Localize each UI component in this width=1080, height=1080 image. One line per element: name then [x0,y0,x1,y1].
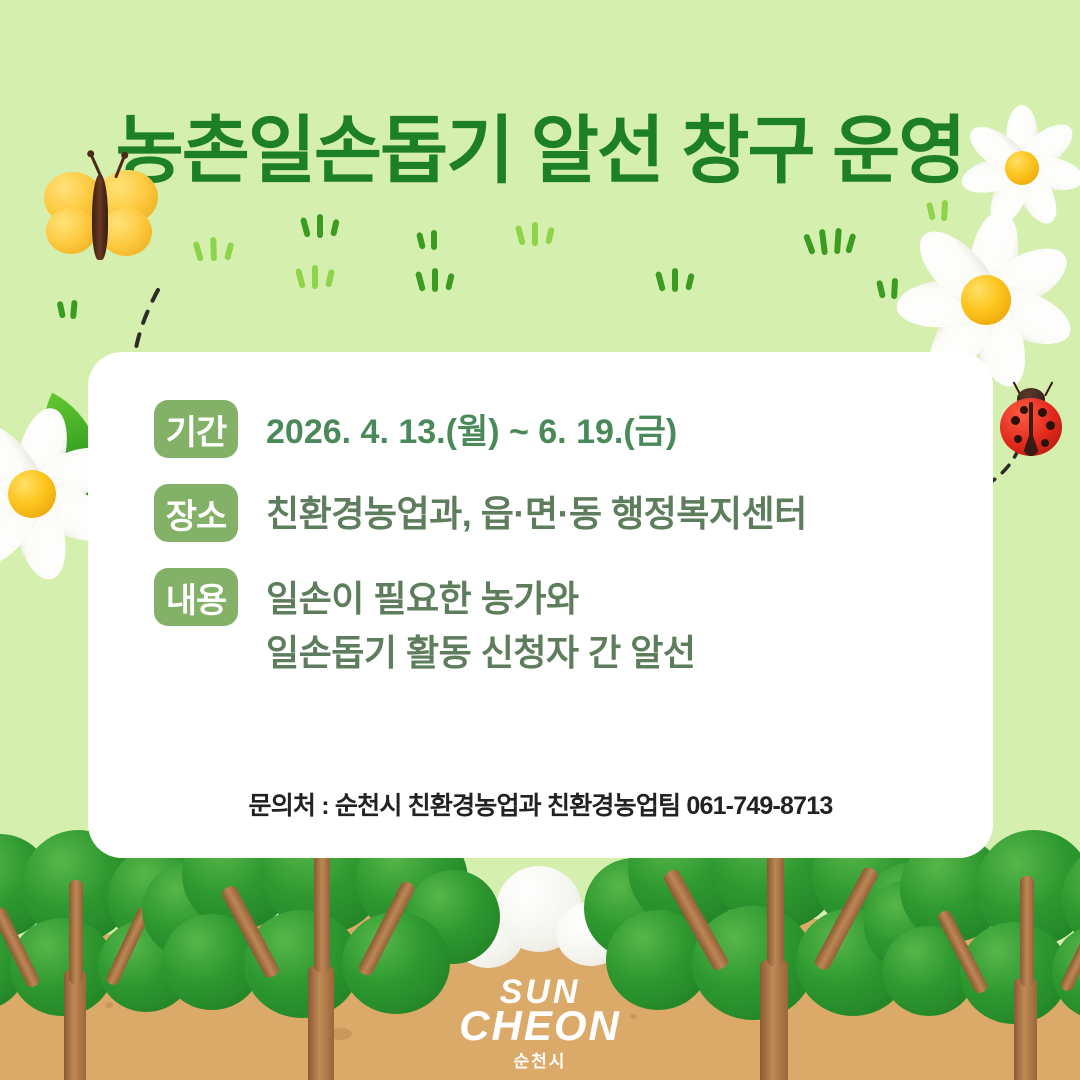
ladybug-icon [1000,388,1066,464]
grass-tuft-icon [420,230,452,252]
content-value: 일손이 필요한 농가와 일손돕기 활동 신청자 간 알선 [266,568,695,680]
badge-content: 내용 [154,568,238,626]
place-value: 친환경농업과, 읍·면·동 행정복지센터 [266,484,807,540]
info-rows: 기간 2026. 4. 13.(월) ~ 6. 19.(금) 장소 친환경농업과… [154,400,953,706]
content-line-1: 일손이 필요한 농가와 [266,578,579,619]
grass-tuft-icon [660,268,698,294]
grass-tuft-icon [520,222,558,248]
daisy-flower-icon [968,114,1076,222]
badge-period: 기간 [154,400,238,458]
info-card: 기간 2026. 4. 13.(월) ~ 6. 19.(금) 장소 친환경농업과… [88,352,993,858]
suncheon-logo: SUN CHEON 순천시 [0,978,1080,1072]
poster-canvas: 농촌일손돕기 알선 창구 운영 [0,0,1080,1080]
logo-line-cheon: CHEON [0,1007,1080,1045]
butterfly-icon [44,158,174,276]
logo-line-korean: 순천시 [0,1047,1080,1072]
info-row-place: 장소 친환경농업과, 읍·면·동 행정복지센터 [154,484,953,542]
period-value: 2026. 4. 13.(월) ~ 6. 19.(금) [266,400,677,457]
grass-tuft-icon [305,214,343,240]
info-row-content: 내용 일손이 필요한 농가와 일손돕기 활동 신청자 간 알선 [154,568,953,680]
info-row-period: 기간 2026. 4. 13.(월) ~ 6. 19.(금) [154,400,953,458]
badge-place: 장소 [154,484,238,542]
contact-info: 문의처 : 순천시 친환경농업과 친환경농업팀 061-749-8713 [88,786,993,822]
grass-tuft-icon [930,200,960,222]
grass-tuft-icon [810,228,854,258]
content-line-2: 일손돕기 활동 신청자 간 알선 [266,626,695,680]
